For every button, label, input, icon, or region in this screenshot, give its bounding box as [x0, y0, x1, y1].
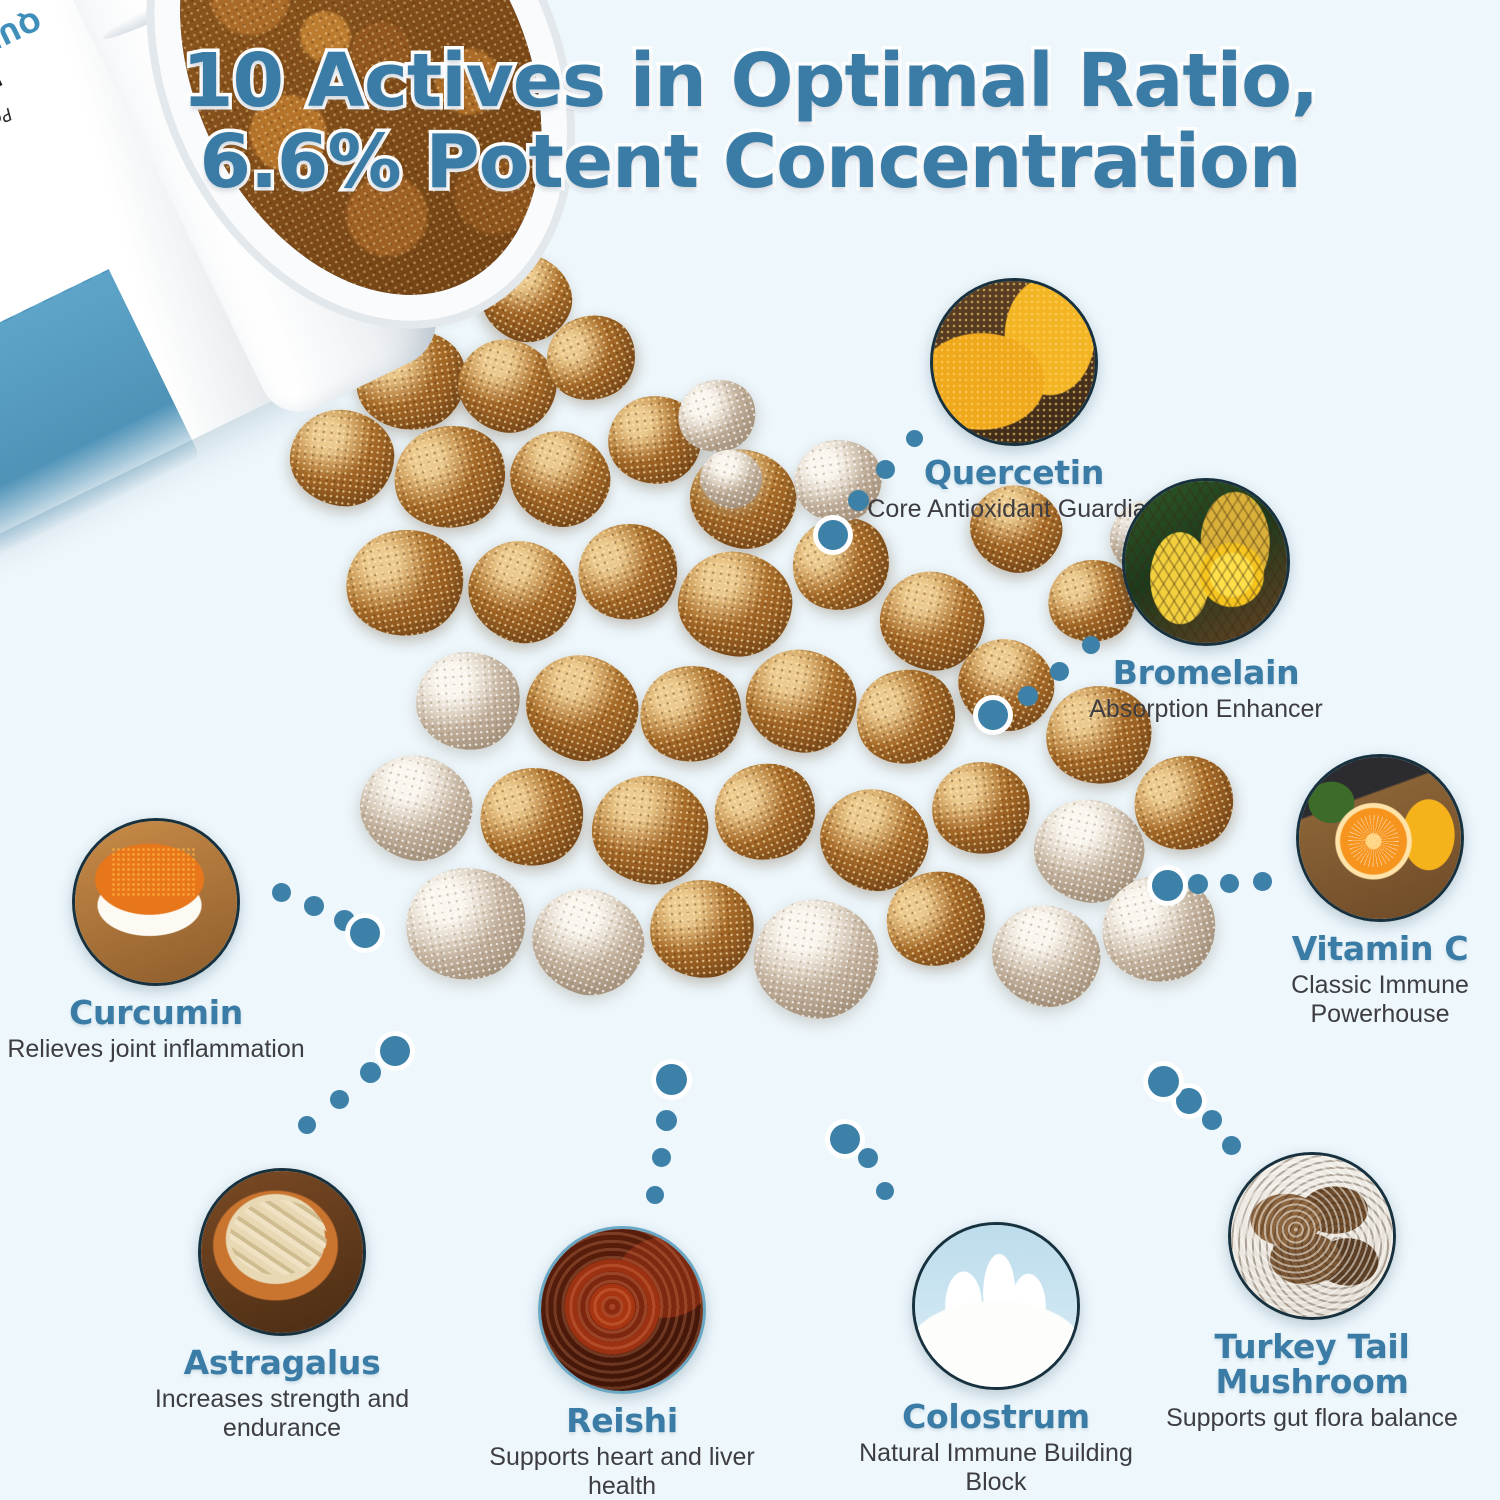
connector-dot — [304, 896, 324, 916]
ingredient-name: Bromelain — [1056, 656, 1356, 691]
ingredient-callout-curcumin: Curcumin Relieves joint inflammation — [6, 818, 306, 1064]
connector-dot — [858, 1148, 878, 1168]
connector-anchor-dot — [656, 1064, 687, 1095]
jar-blue-band — [0, 269, 201, 567]
connector-dot — [876, 1182, 894, 1200]
ingredient-name: Turkey Tail Mushroom — [1162, 1330, 1462, 1400]
colostrum-thumbnail — [912, 1222, 1080, 1390]
ingredient-description: Natural Immune Building Block — [846, 1439, 1146, 1497]
infographic-canvas: QUERCETIN +BROMELAIN DOGS & CATS Pet Eli… — [0, 0, 1500, 1500]
quercetin-thumbnail — [930, 278, 1098, 446]
milk-splash-icon — [915, 1225, 1077, 1387]
ingredient-description: Supports heart and liver health — [472, 1443, 772, 1500]
ingredient-callout-turkey-tail: Turkey Tail Mushroom Supports gut flora … — [1162, 1152, 1462, 1433]
connector-dot — [652, 1148, 671, 1167]
connector-dot — [656, 1110, 677, 1131]
connector-dot — [1202, 1110, 1222, 1130]
turmeric-bowl-icon — [75, 821, 237, 983]
ingredient-description: Relieves joint inflammation — [6, 1035, 306, 1064]
ingredient-callout-colostrum: Colostrum Natural Immune Building Block — [846, 1222, 1146, 1496]
ingredient-callout-bromelain: Bromelain Absorption Enhancer — [1056, 478, 1356, 724]
connector-anchor-dot — [1176, 1088, 1202, 1114]
turkey-tail-mushroom-icon — [1231, 1155, 1393, 1317]
bromelain-thumbnail — [1122, 478, 1290, 646]
connector-dot — [1188, 874, 1208, 894]
connector-anchor-dot — [818, 520, 848, 550]
turmeric-powder-spoon-icon — [933, 281, 1095, 443]
connector-anchor-dot — [830, 1124, 860, 1154]
connector-anchor-dot — [380, 1036, 410, 1066]
ingredient-description: Increases strength and endurance — [132, 1385, 432, 1443]
ingredient-name: Curcumin — [6, 996, 306, 1031]
connector-anchor-dot — [350, 918, 380, 948]
astragalus-root-icon — [201, 1171, 363, 1333]
connector-dot — [646, 1186, 664, 1204]
ingredient-callout-astragalus: Astragalus Increases strength and endura… — [132, 1168, 432, 1442]
ingredient-description: Classic Immune Powerhouse — [1230, 971, 1500, 1029]
orange-citrus-icon — [1299, 757, 1461, 919]
connector-anchor-dot — [1152, 870, 1183, 901]
jar-label-quercetin: QUERCETIN — [0, 4, 45, 106]
ingredient-name: Vitamin C — [1230, 932, 1500, 967]
connector-dot — [330, 1090, 349, 1109]
connector-dot — [1018, 686, 1038, 706]
turkey-tail-thumbnail — [1228, 1152, 1396, 1320]
astragalus-thumbnail — [198, 1168, 366, 1336]
connector-dot — [360, 1062, 381, 1083]
ingredient-description: Absorption Enhancer — [1056, 695, 1356, 724]
ingredient-name: Reishi — [472, 1404, 772, 1439]
ingredient-callout-reishi: Reishi Supports heart and liver health — [472, 1226, 772, 1500]
vitamin-c-thumbnail — [1296, 754, 1464, 922]
jar-brand-name: Pet Elixir — [0, 103, 15, 154]
connector-anchor-dot — [1148, 1066, 1179, 1097]
reishi-mushroom-icon — [541, 1229, 703, 1391]
pineapple-icon — [1125, 481, 1287, 643]
connector-anchor-dot — [978, 700, 1008, 730]
curcumin-thumbnail — [72, 818, 240, 986]
ingredient-name: Astragalus — [132, 1346, 432, 1381]
ingredient-name: Colostrum — [846, 1400, 1146, 1435]
ingredient-description: Supports gut flora balance — [1162, 1404, 1462, 1433]
ingredient-callout-vitamin-c: Vitamin C Classic Immune Powerhouse — [1230, 754, 1500, 1028]
connector-dot — [298, 1116, 316, 1134]
reishi-thumbnail — [538, 1226, 706, 1394]
